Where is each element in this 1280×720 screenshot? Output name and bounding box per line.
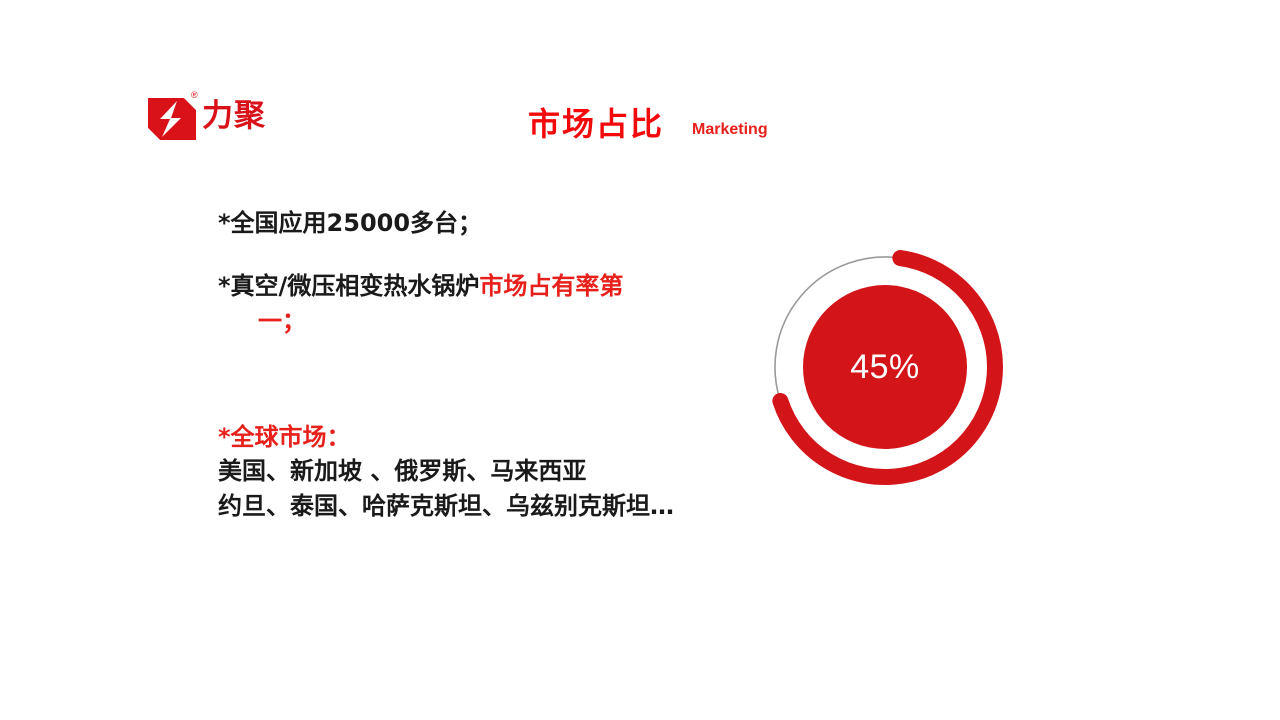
page-title: 市场占比	[528, 108, 664, 142]
page-subtitle: Marketing	[692, 121, 768, 139]
lightning-bolt-icon: ®	[148, 92, 196, 140]
registered-trademark-icon: ®	[191, 91, 198, 100]
company-logo: ® 力聚	[148, 88, 278, 144]
bullet2-highlight-text: 市场占有率第	[479, 272, 623, 300]
chart-inner-disc	[803, 285, 967, 449]
global-market-heading: *全球市场：	[218, 420, 674, 454]
global-market-countries-line-1: 美国、新加坡 、俄罗斯、马来西亚	[218, 454, 674, 488]
slide-title-block: 市场占比 Marketing	[528, 108, 768, 142]
global-market-block: *全球市场： 美国、新加坡 、俄罗斯、马来西亚 约旦、泰国、哈萨克斯坦、乌兹别克…	[218, 420, 674, 523]
market-share-donut-chart: 45%	[757, 239, 1013, 495]
bullet-item-national-installs: *全国应用25000多台；	[218, 208, 482, 238]
global-market-countries-line-2: 约旦、泰国、哈萨克斯坦、乌兹别克斯坦…	[218, 489, 674, 523]
bullet2-highlight-wrap: 一；	[218, 304, 688, 339]
bullet-item-market-share: *真空/微压相变热水锅炉市场占有率第一；	[218, 269, 688, 339]
slide-canvas: ® 力聚 市场占比 Marketing *全国应用25000多台； *真空/微压…	[0, 0, 1280, 720]
bullet2-plain-text: *真空/微压相变热水锅炉	[218, 272, 479, 300]
logo-wordmark: 力聚	[202, 101, 266, 132]
